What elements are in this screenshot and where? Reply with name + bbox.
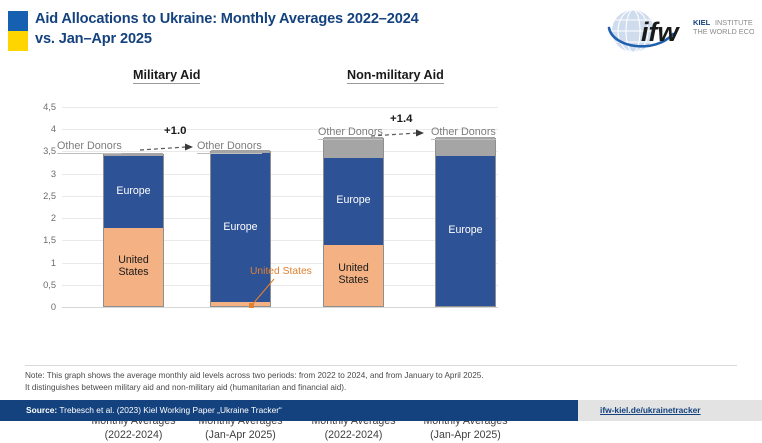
- bar-segment-label: Europe: [116, 186, 150, 198]
- y-tick-label: 1: [22, 258, 56, 268]
- page-title: Aid Allocations to Ukraine: Monthly Aver…: [35, 9, 575, 49]
- flag-yellow-stripe: [8, 31, 28, 51]
- y-tick-label: 3,5: [22, 146, 56, 156]
- x-axis-label-line: (Jan-Apr 2025): [400, 428, 532, 442]
- chart-note-line1: Note: This graph shows the average month…: [25, 370, 685, 382]
- y-tick-label: 4,5: [22, 102, 56, 112]
- bar-segment-europe[interactable]: Europe: [436, 156, 495, 306]
- bar-segment-label: UnitedStates: [338, 263, 369, 287]
- chart-bar[interactable]: Europe: [435, 138, 496, 307]
- y-tick-label: 2: [22, 213, 56, 223]
- section-title-non-military-aid: Non-military Aid: [347, 68, 444, 84]
- page-footer: Source: Trebesch et al. (2023) Kiel Work…: [0, 400, 762, 421]
- footer-url-link[interactable]: ifw-kiel.de/ukrainetracker: [600, 405, 701, 415]
- chart-note-line2: It distinguishes between military aid an…: [25, 382, 685, 394]
- chart-note: Note: This graph shows the average month…: [25, 370, 685, 394]
- logo-kiel-text: KIEL: [693, 18, 711, 27]
- footer-source-text: Source: Trebesch et al. (2023) Kiel Work…: [26, 405, 282, 415]
- y-tick-label: 0: [22, 302, 56, 312]
- flag-blue-stripe: [8, 11, 28, 31]
- note-divider: [25, 365, 737, 366]
- logo-institute-text: INSTITUTE FOR: [715, 18, 754, 27]
- annotation-united-states-callout: United States: [250, 266, 312, 277]
- y-tick-label: 1,5: [22, 235, 56, 245]
- section-title-military-aid: Military Aid: [133, 68, 200, 84]
- y-tick-label: 3: [22, 169, 56, 179]
- bar-segment-europe[interactable]: Europe: [104, 156, 163, 228]
- y-tick-label: 0,5: [22, 280, 56, 290]
- footer-source-citation: Trebesch et al. (2023) Kiel Working Pape…: [57, 405, 282, 415]
- bar-segment-label: Europe: [336, 195, 370, 207]
- svg-text:ifw: ifw: [641, 17, 680, 47]
- annotation-other-donors-bar1: Other Donors: [57, 140, 122, 154]
- bar-segment-united-states[interactable]: UnitedStates: [324, 245, 383, 306]
- page-title-line2: vs. Jan–Apr 2025: [35, 29, 575, 49]
- y-tick-label: 4: [22, 124, 56, 134]
- page-header: Aid Allocations to Ukraine: Monthly Aver…: [0, 0, 762, 62]
- y-axis-tick-labels: 00,511,522,533,544,5: [22, 96, 56, 311]
- logo-world-economy-text: THE WORLD ECONOMY: [693, 27, 754, 36]
- footer-source-label: Source:: [26, 405, 57, 415]
- bar-segment-label: Europe: [448, 225, 482, 237]
- ukraine-flag-icon: [8, 11, 28, 51]
- annotation-arrow-military: [138, 142, 194, 154]
- chart-plot-area: 00,511,522,533,544,5 UnitedStatesEuropeE…: [0, 96, 600, 311]
- annotation-leader-line-united-states: [248, 278, 288, 310]
- y-tick-label: 2,5: [22, 191, 56, 201]
- annotation-delta-nonmilitary: +1.4: [390, 113, 413, 125]
- bar-segment-united-states[interactable]: UnitedStates: [104, 228, 163, 306]
- bar-segment-label: Europe: [223, 222, 257, 234]
- page-title-line1: Aid Allocations to Ukraine: Monthly Aver…: [35, 9, 575, 29]
- annotation-other-donors-bar2: Other Donors: [197, 140, 262, 154]
- annotation-arrow-nonmilitary: [369, 128, 425, 140]
- bar-segment-label: UnitedStates: [118, 255, 149, 279]
- bar-segment-europe[interactable]: Europe: [324, 158, 383, 245]
- chart-bar[interactable]: UnitedStatesEurope: [103, 154, 164, 307]
- ifw-kiel-logo: ifw KIEL INSTITUTE FOR THE WORLD ECONOMY: [589, 6, 754, 58]
- chart-bar[interactable]: UnitedStatesEurope: [323, 138, 384, 307]
- annotation-delta-military: +1.0: [164, 125, 187, 137]
- gridline: [62, 107, 498, 108]
- annotation-other-donors-bar4: Other Donors: [431, 126, 496, 140]
